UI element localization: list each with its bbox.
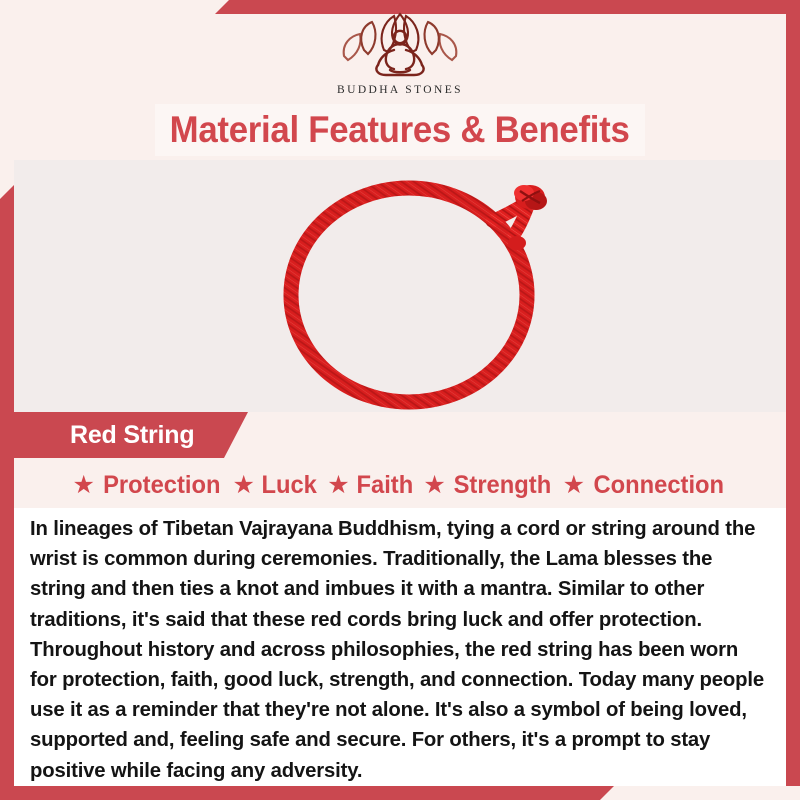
brand-logo: BUDDHA STONES bbox=[0, 10, 800, 96]
benefit-item-strength: ★ Strength bbox=[423, 471, 553, 500]
benefit-item-protection: ★ Protection bbox=[72, 471, 223, 500]
benefit-item-faith: ★ Faith bbox=[327, 471, 414, 500]
benefit-item-luck: ★ Luck bbox=[233, 471, 319, 500]
product-image-area bbox=[14, 160, 786, 412]
benefit-label: Strength bbox=[453, 471, 551, 500]
header: BUDDHA STONES Material Features & Benefi… bbox=[0, 0, 800, 160]
star-icon: ★ bbox=[233, 473, 255, 498]
star-icon: ★ bbox=[563, 473, 585, 498]
star-icon: ★ bbox=[327, 473, 349, 498]
product-name-label: Red String bbox=[70, 421, 194, 450]
description-panel: In lineages of Tibetan Vajrayana Buddhis… bbox=[14, 508, 786, 786]
benefit-label: Protection bbox=[103, 471, 220, 500]
benefit-label: Faith bbox=[356, 471, 413, 500]
decorative-bottom-bar bbox=[0, 786, 614, 800]
benefit-label: Connection bbox=[593, 471, 724, 500]
benefit-label: Luck bbox=[261, 471, 316, 500]
title-band: Material Features & Benefits bbox=[155, 104, 645, 156]
product-name-banner: Red String bbox=[0, 412, 248, 458]
description-paragraph: In lineages of Tibetan Vajrayana Buddhis… bbox=[14, 508, 786, 786]
page-title: Material Features & Benefits bbox=[170, 109, 630, 151]
brand-name: BUDDHA STONES bbox=[0, 84, 800, 96]
benefits-row: ★ Protection ★ Luck ★ Faith ★ Strength ★… bbox=[14, 462, 786, 508]
red-string-bracelet-image bbox=[274, 165, 574, 412]
star-icon: ★ bbox=[72, 473, 94, 498]
benefit-item-connection: ★ Connection bbox=[563, 471, 728, 500]
star-icon: ★ bbox=[423, 473, 445, 498]
infographic-page: BUDDHA STONES Material Features & Benefi… bbox=[0, 0, 800, 800]
lotus-meditation-icon bbox=[334, 10, 466, 82]
decorative-left-bar bbox=[0, 185, 14, 786]
